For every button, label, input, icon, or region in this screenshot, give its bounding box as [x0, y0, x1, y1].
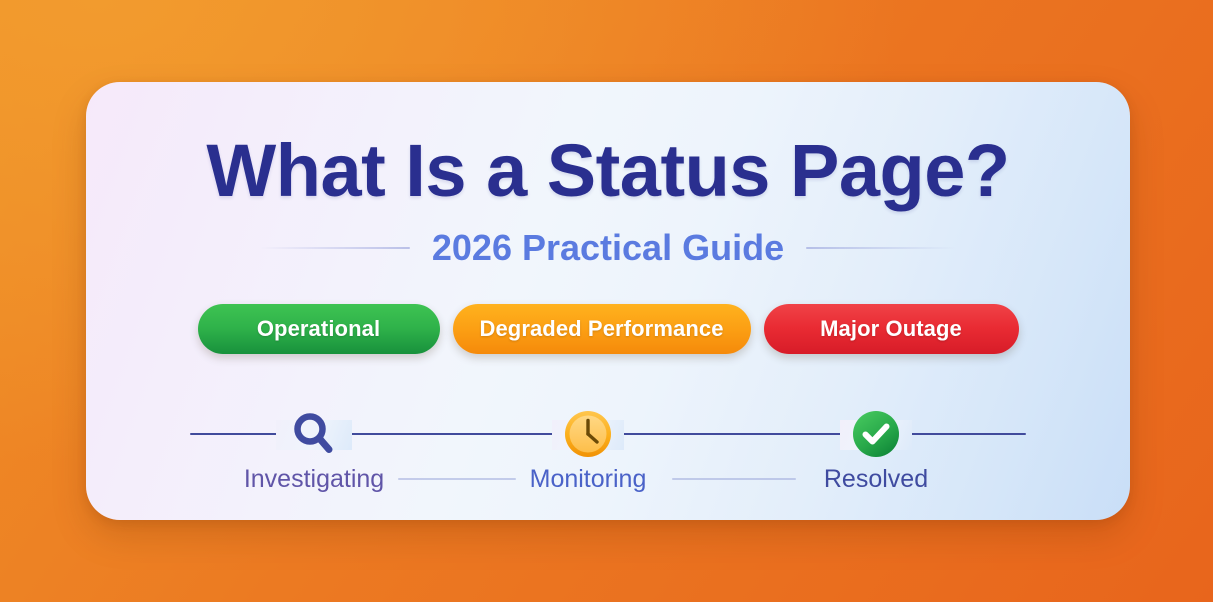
clock-icon — [562, 408, 614, 460]
status-pill-major-outage[interactable]: Major Outage — [764, 304, 1019, 354]
magnifying-glass-icon — [288, 408, 340, 460]
timeline-label-rule-2 — [672, 478, 796, 480]
timeline-label-rule-1 — [398, 478, 516, 480]
page-subtitle: 2026 Practical Guide — [432, 230, 784, 266]
page-title: What Is a Status Page? — [86, 134, 1130, 208]
subtitle-rule-left — [260, 247, 410, 249]
timeline-step-label-monitoring: Monitoring — [530, 466, 647, 494]
subtitle-row: 2026 Practical Guide — [86, 230, 1130, 266]
timeline-step-monitoring[interactable]: Monitoring — [508, 400, 668, 494]
status-pill-row: Operational Degraded Performance Major O… — [86, 304, 1130, 354]
status-page-card: What Is a Status Page? 2026 Practical Gu… — [86, 82, 1130, 520]
status-pill-degraded-performance[interactable]: Degraded Performance — [453, 304, 751, 354]
incident-timeline: Investigating — [190, 400, 1026, 500]
subtitle-rule-right — [806, 247, 956, 249]
timeline-step-label-resolved: Resolved — [824, 466, 928, 494]
timeline-step-resolved[interactable]: Resolved — [796, 400, 956, 494]
check-circle-icon — [850, 408, 902, 460]
timeline-step-investigating[interactable]: Investigating — [234, 400, 394, 494]
poster-canvas: What Is a Status Page? 2026 Practical Gu… — [0, 0, 1213, 602]
status-pill-operational[interactable]: Operational — [198, 304, 440, 354]
timeline-step-label-investigating: Investigating — [244, 466, 384, 494]
